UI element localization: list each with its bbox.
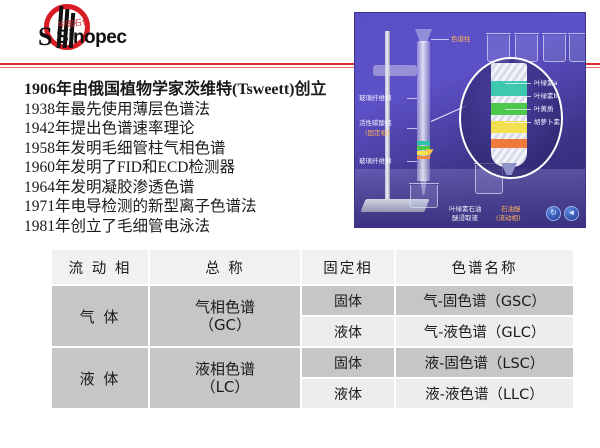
cell-mobile-phase-liquid: 液 体 [52, 348, 148, 408]
label-glass-wool-bottom: 玻璃纤维棉 [359, 157, 392, 165]
cell-mobile-phase-gas: 气 体 [52, 286, 148, 346]
magnified-band-carotene [491, 139, 527, 148]
table-header-row: 流 动 相 总 称 固定相 色谱名称 [52, 250, 573, 284]
list-item: 1981年创立了毛细管电泳法 [24, 217, 344, 237]
label-mobile-line1: 石油醚 [501, 205, 521, 213]
magnified-column-icon [491, 63, 527, 167]
burette-clamp-icon [373, 65, 417, 76]
collection-beaker-icon [410, 185, 438, 208]
cell-stationary-phase-liquid: 液体 [302, 317, 394, 346]
label-mobile-line2: (流动相) [496, 214, 521, 222]
leader-line [505, 109, 531, 110]
list-item: 1971年电导检测的新型离子色谱法 [24, 197, 344, 217]
chromatography-illustration: 色谱柱 玻璃纤维棉 活性碳酸钙 (固定相) 玻璃纤维棉 叶绿素a 叶绿素b 叶黄… [354, 12, 586, 228]
column-header-chromatography-name: 色谱名称 [396, 250, 573, 284]
leader-line [407, 161, 417, 162]
cell-chromatography-name-lsc: 液-固色谱（LSC） [396, 348, 573, 377]
column-header-stationary-phase: 固定相 [302, 250, 394, 284]
cell-chromatography-name-llc: 液-液色谱（LLC） [396, 379, 573, 408]
cell-chromatography-name-glc: 气-液色谱（GLC） [396, 317, 573, 346]
leader-line [431, 39, 449, 40]
general-name-line1: 液相色谱 [150, 360, 300, 378]
table-row: 液 体 液相色谱 （LC） 固体 液-固色谱（LSC） [52, 348, 573, 377]
label-chlorophyll-b: 叶绿素b [534, 92, 558, 100]
column-header-general-name: 总 称 [150, 250, 300, 284]
list-item: 1964年发明凝胶渗透色谱 [24, 178, 344, 198]
table-row: 气 体 气相色谱 （GC） 固体 气-固色谱（GSC） [52, 286, 573, 315]
column-header-mobile-phase: 流 动 相 [52, 250, 148, 284]
label-sample-line1: 叶绿素石油 [449, 205, 482, 213]
label-glass-wool-top: 玻璃纤维棉 [359, 94, 392, 102]
leader-line [407, 98, 417, 99]
sinopec-logo: S Sinopec 中国石化 [28, 2, 120, 58]
chromatography-column-icon [417, 41, 430, 181]
leader-line [505, 83, 531, 84]
cell-general-name-gc: 气相色谱 （GC） [150, 286, 300, 346]
band-chlorophyll-a [417, 141, 430, 145]
replay-button[interactable]: ↻ [546, 206, 561, 221]
list-item: 1958年发明毛细管柱气相色谱 [24, 139, 344, 159]
list-item: 1942年提出色谱速率理论 [24, 119, 344, 139]
label-sample-line2: 醚浸取液 [452, 214, 478, 222]
logo-wordmark: Sinopec [56, 28, 126, 47]
general-name-line2: （GC） [150, 316, 300, 334]
sound-button[interactable]: ◄ [564, 206, 579, 221]
magnified-column-tip-icon [501, 163, 517, 175]
general-name-line1: 气相色谱 [150, 298, 300, 316]
label-stationary-phase: 活性碳酸钙 [359, 119, 392, 127]
cell-chromatography-name-gsc: 气-固色谱（GSC） [396, 286, 573, 315]
label-carotene: 胡萝卜素 [534, 118, 560, 126]
band-carotene [417, 156, 430, 159]
list-item: 1960年发明了FID和ECD检测器 [24, 158, 344, 178]
cell-general-name-lc: 液相色谱 （LC） [150, 348, 300, 408]
retort-stand-rod-icon [385, 31, 390, 201]
history-items: 1906年由俄国植物学家茨维特(Tsweett)创立 1938年最先使用薄层色谱… [24, 80, 344, 236]
label-chlorophyll-a: 叶绿素a [534, 79, 557, 87]
leader-line [505, 96, 531, 97]
beaker-icon [543, 35, 566, 62]
list-item: 1906年由俄国植物学家茨维特(Tsweett)创立 [24, 80, 344, 100]
cell-stationary-phase-solid: 固体 [302, 286, 394, 315]
list-item: 1938年最先使用薄层色谱法 [24, 100, 344, 120]
logo-s-glyph: S [38, 24, 52, 50]
leader-line [505, 122, 531, 123]
general-name-line2: （LC） [150, 378, 300, 396]
label-column: 色谱柱 [451, 35, 471, 43]
beaker-icon [569, 35, 586, 62]
leader-line [407, 128, 417, 129]
label-stationary-phase-note: (固定相) [365, 129, 390, 137]
history-list: 1906年由俄国植物学家茨维特(Tsweett)创立 1938年最先使用薄层色谱… [24, 80, 344, 236]
label-xanthophyll: 叶黄质 [534, 105, 554, 113]
cell-stationary-phase-liquid: 液体 [302, 379, 394, 408]
chromatography-classification-table: 流 动 相 总 称 固定相 色谱名称 气 体 气相色谱 （GC） 固体 气-固色… [50, 248, 575, 410]
cell-stationary-phase-solid: 固体 [302, 348, 394, 377]
